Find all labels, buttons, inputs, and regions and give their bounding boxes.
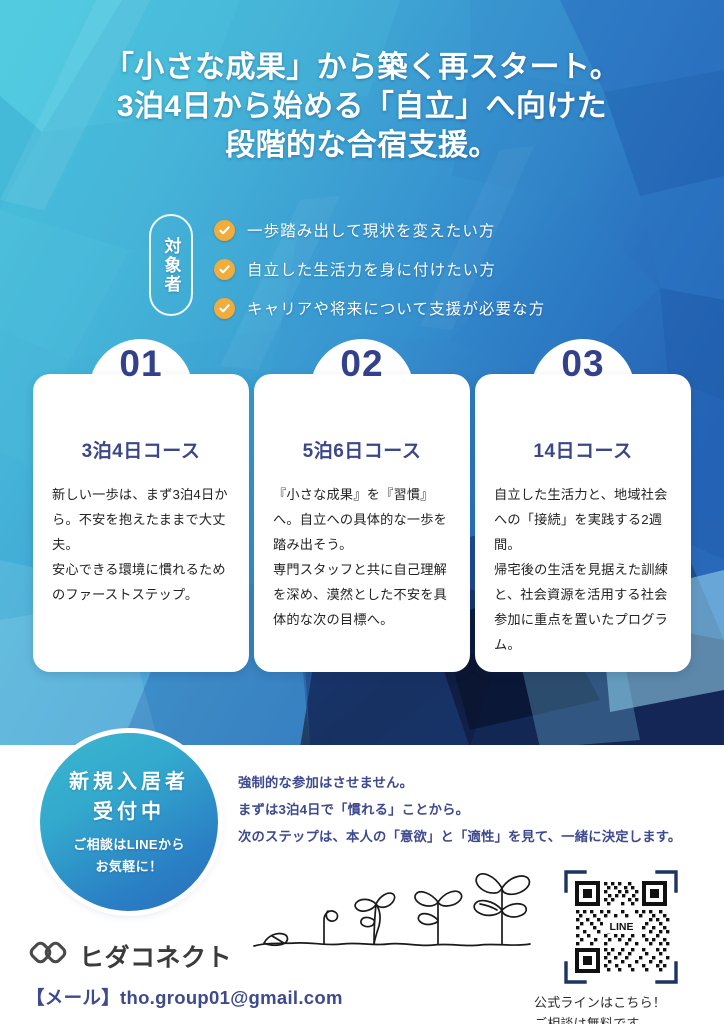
badge-subtitle-line-2: お気軽に！ bbox=[95, 856, 162, 878]
qr-caption-line-2: ご相談は無料です。 bbox=[534, 1013, 714, 1024]
course-description: 『小さな成果』を『習慣』へ。自立への具体的な一歩を踏み出そう。 専門スタッフと共… bbox=[273, 482, 453, 632]
badge-title-line-2: 受付中 bbox=[93, 797, 165, 827]
note-line-2: まずは3泊4日で「慣れる」ことから。 bbox=[238, 796, 708, 823]
target-audience-label-text: 対象者 bbox=[159, 237, 184, 294]
plant-growth-illustration bbox=[252, 858, 534, 954]
list-item-label: 一歩踏み出して現状を変えたい方 bbox=[247, 219, 496, 241]
note-line-3: 次のステップは、本人の「意欲」と「適性」を見て、一緒に決定します。 bbox=[238, 823, 708, 850]
course-title: 5泊6日コース bbox=[254, 436, 470, 463]
target-audience-section: 対象者 一歩踏み出して現状を変えたい方 自立した生活力を身に付けたい方 キャリア… bbox=[0, 212, 724, 330]
list-item: 自立した生活力を身に付けたい方 bbox=[214, 251, 545, 287]
course-number: 02 bbox=[307, 342, 417, 386]
brand-logo: ヒダコネクト bbox=[28, 937, 232, 974]
course-description: 自立した生活力と、地域社会への「接続」を実践する2週間。 帰宅後の生活を見据えた… bbox=[494, 482, 674, 657]
course-title: 14日コース bbox=[475, 436, 691, 463]
plant-line-art bbox=[252, 858, 534, 954]
list-item-label: 自立した生活力を身に付けたい方 bbox=[247, 258, 496, 280]
email-contact[interactable]: 【メール】tho.group01@gmail.com bbox=[26, 984, 343, 1010]
brand-name: ヒダコネクト bbox=[79, 938, 232, 974]
course-cards: 01 3泊4日コース 新しい一歩は、まず3泊4日から。不安を抱えたままで大丈夫。… bbox=[0, 338, 724, 678]
target-audience-list: 一歩踏み出して現状を変えたい方 自立した生活力を身に付けたい方 キャリアや将来に… bbox=[214, 212, 545, 329]
qr-code-graphic: LINE bbox=[563, 869, 679, 985]
qr-caption: 公式ラインはこちら！ ご相談は無料です。 bbox=[534, 992, 714, 1024]
email-address[interactable]: tho.group01@gmail.com bbox=[120, 987, 343, 1008]
course-description: 新しい一歩は、まず3泊4日から。不安を抱えたままで大丈夫。 安心できる環境に慣れ… bbox=[52, 482, 232, 607]
course-title: 3泊4日コース bbox=[33, 436, 249, 463]
contact-panel: 新規入居者 受付中 ご相談はLINEから お気軽に！ 強制的な参加はさせません。… bbox=[0, 745, 724, 1024]
badge-title-line-1: 新規入居者 bbox=[69, 767, 189, 797]
list-item: キャリアや将来について支援が必要な方 bbox=[214, 290, 545, 326]
headline-line-2: 3泊4日から始める「自立」へ向けた bbox=[0, 87, 724, 126]
list-item-label: キャリアや将来について支援が必要な方 bbox=[247, 297, 545, 319]
new-resident-badge[interactable]: 新規入居者 受付中 ご相談はLINEから お気軽に！ bbox=[40, 733, 218, 911]
qr-caption-line-1: 公式ラインはこちら！ bbox=[534, 992, 714, 1013]
list-item: 一歩踏み出して現状を変えたい方 bbox=[214, 212, 545, 248]
line-qr-code[interactable]: LINE bbox=[563, 869, 679, 985]
course-number: 03 bbox=[528, 342, 638, 386]
headline-line-1: 「小さな成果」から築く再スタート。 bbox=[0, 48, 724, 87]
course-card-03[interactable]: 03 14日コース 自立した生活力と、地域社会への「接続」を実践する2週間。 帰… bbox=[475, 374, 691, 672]
chain-link-icon bbox=[28, 937, 68, 974]
chain-link-glyph bbox=[28, 937, 68, 969]
headline-line-3: 段階的な合宿支援。 bbox=[0, 126, 724, 165]
course-card-02[interactable]: 02 5泊6日コース 『小さな成果』を『習慣』へ。自立への具体的な一歩を踏み出そ… bbox=[254, 374, 470, 672]
course-card-01[interactable]: 01 3泊4日コース 新しい一歩は、まず3泊4日から。不安を抱えたままで大丈夫。… bbox=[33, 374, 249, 672]
poster: 「小さな成果」から築く再スタート。 3泊4日から始める「自立」へ向けた 段階的な… bbox=[0, 0, 724, 1024]
notes-list: 強制的な参加はさせません。 まずは3泊4日で「慣れる」ことから。 次のステップは… bbox=[238, 769, 708, 850]
qr-center-label: LINE bbox=[610, 921, 634, 933]
email-label: 【メール】 bbox=[26, 987, 120, 1008]
headline: 「小さな成果」から築く再スタート。 3泊4日から始める「自立」へ向けた 段階的な… bbox=[0, 48, 724, 165]
course-number: 01 bbox=[86, 342, 196, 386]
check-circle-icon bbox=[214, 298, 235, 319]
check-circle-icon bbox=[214, 259, 235, 280]
target-audience-label: 対象者 bbox=[149, 214, 193, 316]
badge-subtitle-line-1: ご相談はLINEから bbox=[73, 834, 185, 856]
check-circle-icon bbox=[214, 220, 235, 241]
note-line-1: 強制的な参加はさせません。 bbox=[238, 769, 708, 796]
